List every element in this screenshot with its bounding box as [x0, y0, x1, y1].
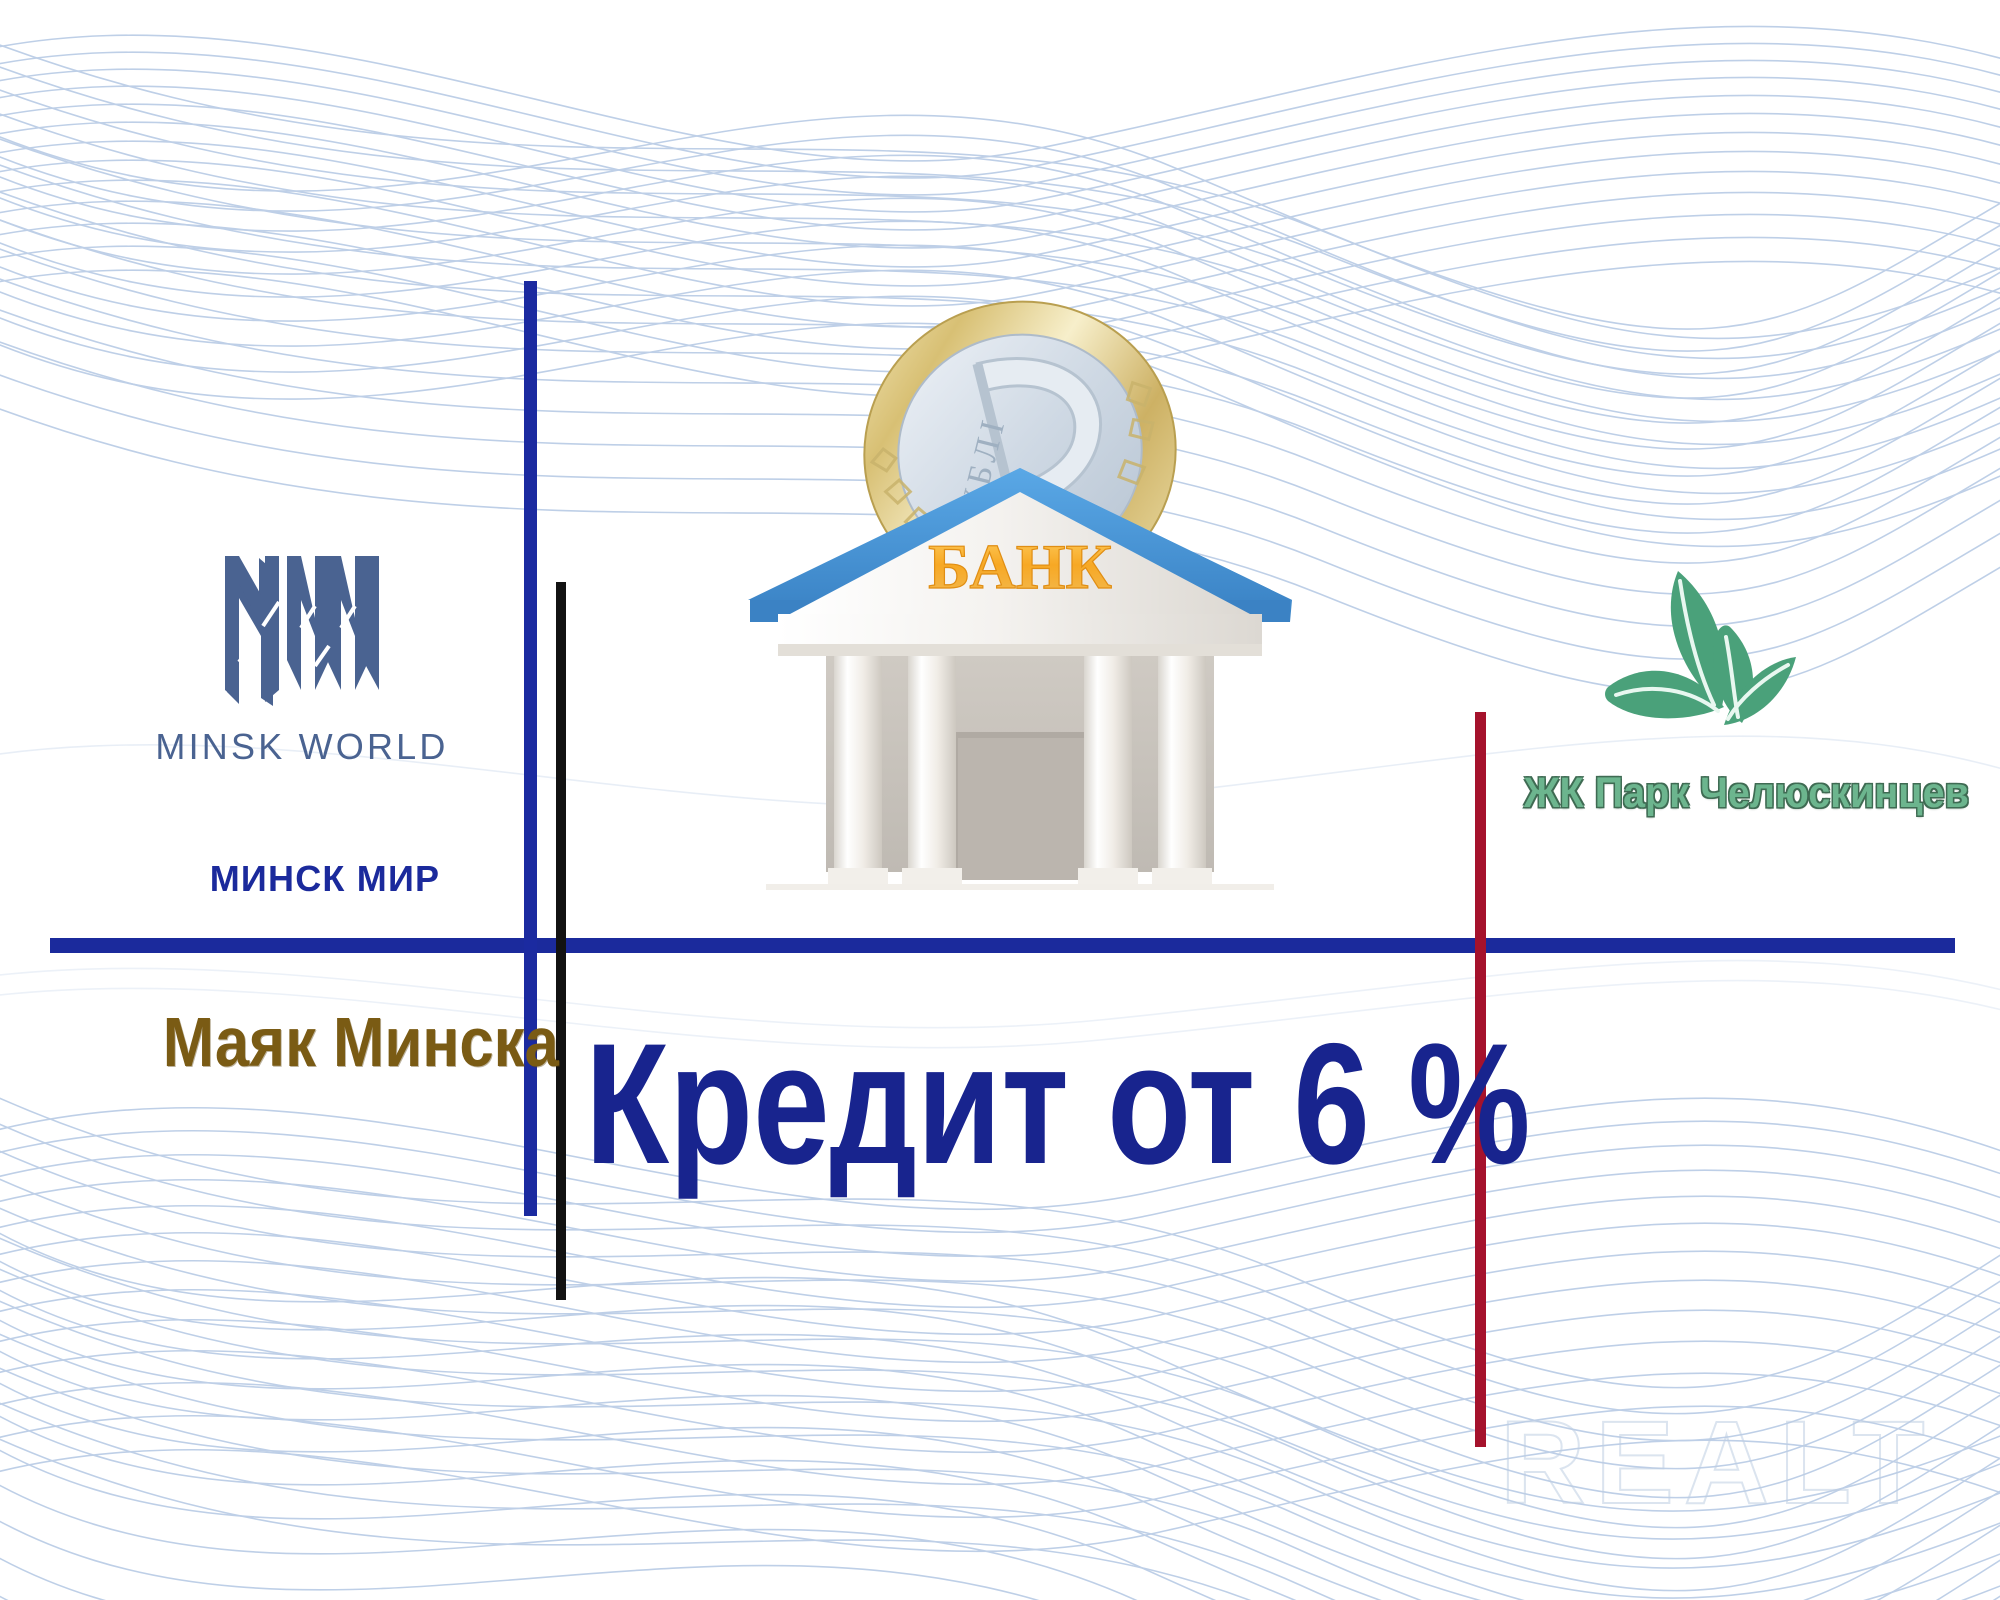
minsk-world-wordmark: MINSK WORLD — [152, 726, 452, 768]
minsk-mir-label: МИНСК МИР — [160, 858, 490, 900]
mw-monogram-icon — [209, 540, 395, 710]
mayak-minska-label: Маяк Минска — [163, 1002, 497, 1082]
bank-label: БАНК — [928, 531, 1112, 602]
green-leaf-icon — [1590, 565, 1890, 765]
realt-watermark: REALT — [1500, 1395, 1935, 1531]
page-title: Кредит от 6 % — [585, 1018, 1305, 1190]
minsk-world-logo-block: MINSK WORLD — [152, 540, 452, 768]
park-chelyuskintsev-logo-block: ЖК Парк Челюскинцев — [1505, 565, 1975, 818]
vertical-divider-black — [556, 582, 566, 1300]
park-chelyuskintsev-label: ЖК Парк Челюскинцев — [1524, 769, 1956, 818]
horizontal-divider — [50, 938, 1955, 953]
promo-poster: REALT — [0, 0, 2000, 1600]
bank-building-with-coin-icon: РУБЛІ БАНК — [730, 270, 1310, 890]
